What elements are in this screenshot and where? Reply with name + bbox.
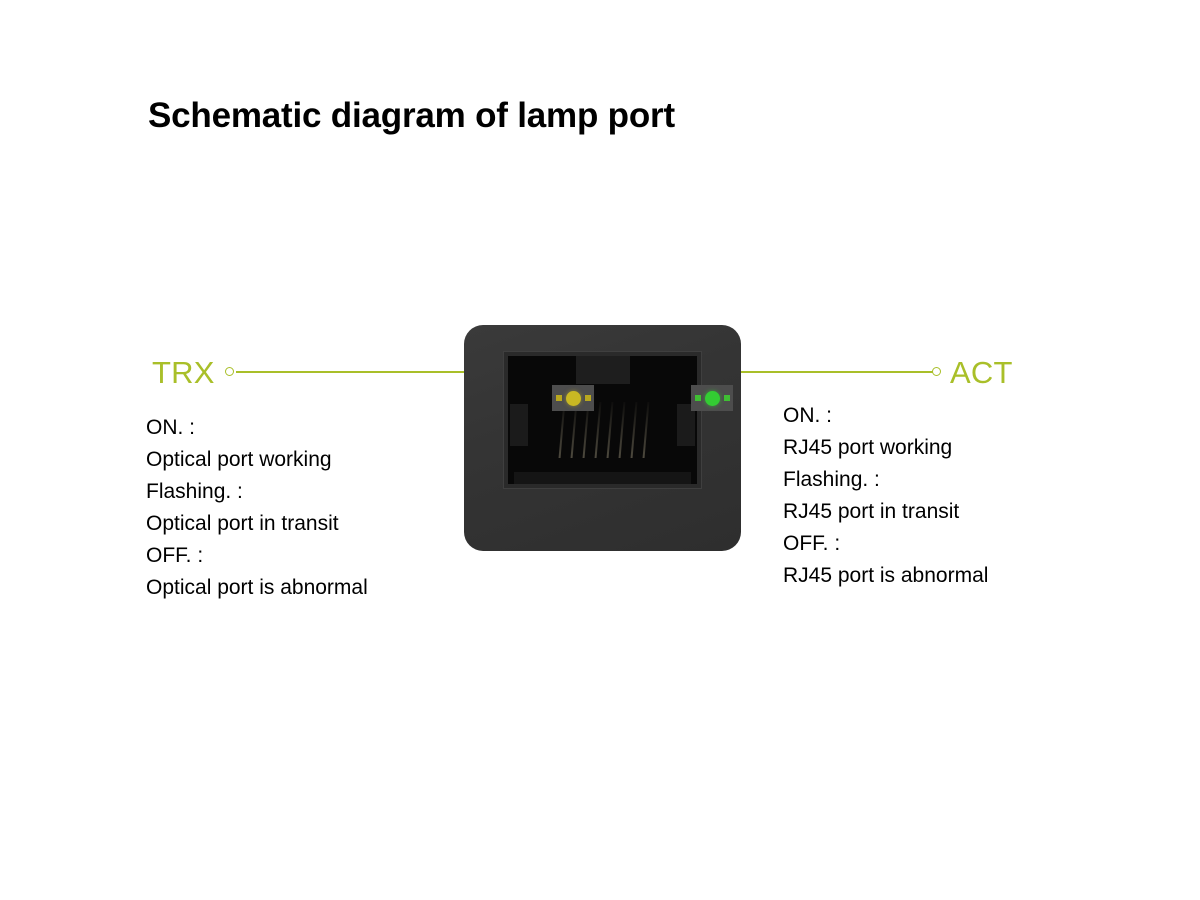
rj45-pin xyxy=(594,402,601,458)
status-line: Optical port working xyxy=(146,444,368,476)
led-pad-icon xyxy=(724,395,730,401)
status-line: Flashing. : xyxy=(783,464,988,496)
port-label-act: ACT xyxy=(950,355,1013,391)
status-line: RJ45 port in transit xyxy=(783,496,988,528)
rj45-pin xyxy=(630,402,637,458)
status-line: Optical port in transit xyxy=(146,508,368,540)
status-line: OFF. : xyxy=(146,540,368,572)
status-line: ON. : xyxy=(146,412,368,444)
led-bulb-icon xyxy=(566,391,581,406)
status-line: ON. : xyxy=(783,400,988,432)
rj45-keyway-notch xyxy=(576,356,630,384)
rj45-pin xyxy=(642,402,649,458)
trx-status-description: ON. : Optical port working Flashing. : O… xyxy=(146,412,368,604)
rj45-bottom-lip xyxy=(514,472,691,484)
rj45-port-opening xyxy=(508,356,697,484)
jack-recess-frame xyxy=(503,351,702,489)
status-line: Optical port is abnormal xyxy=(146,572,368,604)
status-line: RJ45 port working xyxy=(783,432,988,464)
rj45-pin xyxy=(606,402,613,458)
leader-endpoint-dot-act xyxy=(932,367,941,376)
leader-endpoint-dot-trx xyxy=(225,367,234,376)
rj45-shoulder-left xyxy=(510,404,528,446)
led-pad-icon xyxy=(585,395,591,401)
status-line: RJ45 port is abnormal xyxy=(783,560,988,592)
led-pad-icon xyxy=(556,395,562,401)
page-title: Schematic diagram of lamp port xyxy=(148,96,675,136)
status-line: OFF. : xyxy=(783,528,988,560)
port-label-trx: TRX xyxy=(152,355,215,391)
rj45-pin xyxy=(618,402,625,458)
led-indicator-act xyxy=(691,385,733,411)
rj45-jack-illustration xyxy=(464,325,741,551)
led-indicator-trx xyxy=(552,385,594,411)
led-pad-icon xyxy=(695,395,701,401)
act-status-description: ON. : RJ45 port working Flashing. : RJ45… xyxy=(783,400,988,592)
led-bulb-icon xyxy=(705,391,720,406)
status-line: Flashing. : xyxy=(146,476,368,508)
